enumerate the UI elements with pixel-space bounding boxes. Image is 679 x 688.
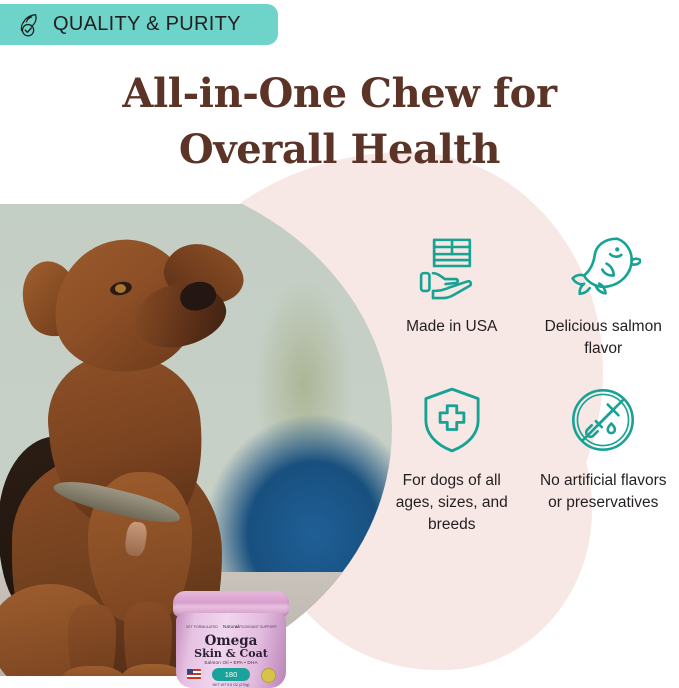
leaf-check-icon (14, 10, 44, 40)
product-jar: VET FORMULATED ANTIOXIDANT SUPPORT Natur… (170, 591, 292, 688)
headline-line-1: All-in-One Chew for (0, 66, 679, 122)
fish-icon (565, 228, 641, 304)
jar-net-weight: NET WT 9.5 OZ (270g) (176, 683, 286, 687)
feature-all-dogs: For dogs of all ages, sizes, and breeds (376, 382, 528, 536)
feature-made-in-usa: Made in USA (376, 228, 528, 360)
gold-seal-badge-icon (261, 668, 276, 683)
shield-cross-icon (414, 382, 490, 458)
feature-salmon-flavor: Delicious salmon flavor (528, 228, 679, 360)
jar-count-badge: 180 (212, 668, 250, 681)
quality-purity-badge: QUALITY & PURITY (0, 4, 278, 45)
feature-no-artificial: No artificial flavors or preservatives (528, 382, 679, 536)
feature-grid: Made in USA Delicious salmon flavor For … (376, 228, 679, 536)
headline-line-2: Overall Health (0, 122, 679, 178)
feature-label: Made in USA (406, 316, 497, 338)
jar-title-line-2: Skin & Coat (176, 647, 286, 660)
no-dropper-icon (565, 382, 641, 458)
product-marketing-image: QUALITY & PURITY All-in-One Chew for Ove… (0, 0, 679, 688)
jar-brand: Natural (176, 624, 286, 629)
feature-label: For dogs of all ages, sizes, and breeds (386, 470, 518, 536)
page-title: All-in-One Chew for Overall Health (0, 66, 679, 178)
jar-body: VET FORMULATED ANTIOXIDANT SUPPORT Natur… (176, 613, 286, 688)
jar-subtitle: Salmon Oil • EPA • DHA (176, 660, 286, 665)
feature-label: Delicious salmon flavor (537, 316, 669, 360)
hand-holding-usa-flag-icon (414, 228, 490, 304)
dog-eye-iris (115, 284, 126, 293)
usa-flag-badge-icon (187, 669, 201, 679)
feature-label: No artificial flavors or preservatives (537, 470, 669, 514)
quality-purity-badge-label: QUALITY & PURITY (53, 13, 241, 36)
